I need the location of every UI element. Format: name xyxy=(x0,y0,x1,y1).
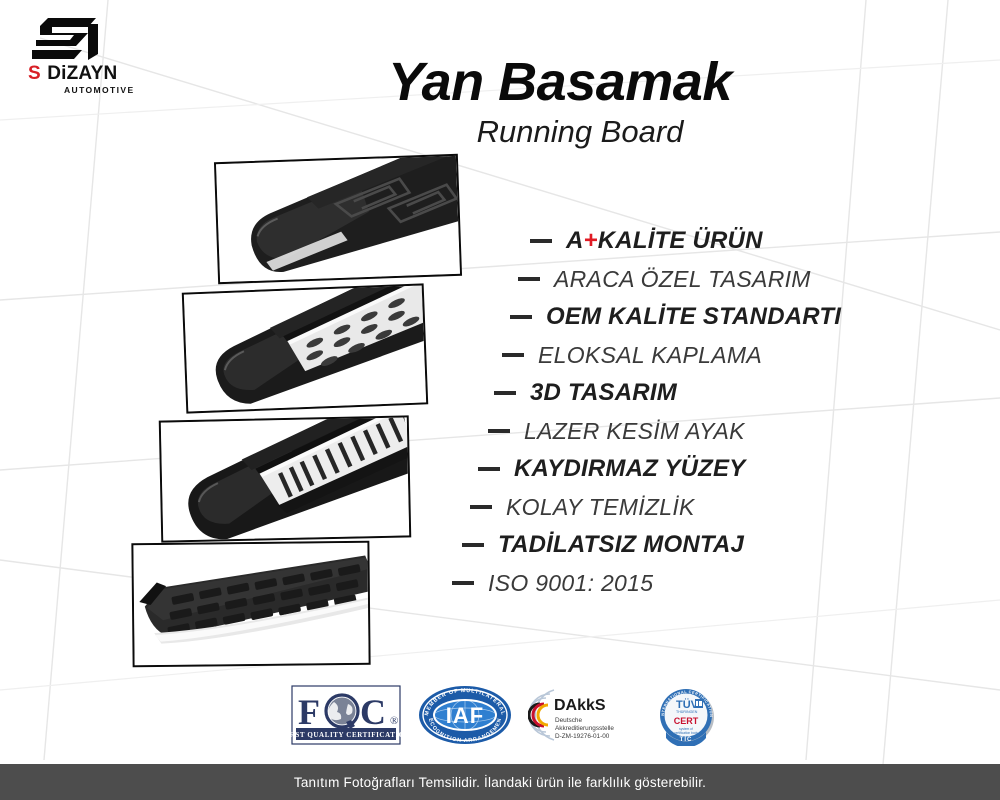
bullet-dash-icon xyxy=(478,467,500,471)
svg-text:IAF: IAF xyxy=(446,703,484,728)
bullet-dash-icon xyxy=(488,429,510,433)
running-board-photo-4 xyxy=(131,541,370,667)
brand-tagline: AUTOMOTIVE xyxy=(64,85,196,95)
feature-item-10: ISO 9001: 2015 xyxy=(440,564,910,602)
feature-item-2: ARACA ÖZEL TASARIM xyxy=(440,260,910,298)
bullet-dash-icon xyxy=(502,353,524,357)
svg-text:Deutsche: Deutsche xyxy=(555,717,582,724)
feature-item-5: 3D TASARIM xyxy=(440,374,910,412)
svg-text:®: ® xyxy=(390,715,398,727)
feature-label-7: KAYDIRMAZ YÜZEY xyxy=(514,457,745,481)
s-dizayn-logo-icon xyxy=(26,16,102,62)
svg-text:certification body: certification body xyxy=(674,731,698,735)
brand-name: DiZAYN xyxy=(47,64,117,83)
feature-label-5: 3D TASARIM xyxy=(530,381,677,405)
iaf-certification-logo: IAF MEMBER OF MULTILATERAL RECOGNITION A… xyxy=(416,684,514,746)
fqc-tagline: FIRST QUALITY CERTIFICATION xyxy=(290,731,402,739)
bullet-dash-icon xyxy=(470,505,492,509)
feature-label-8: KOLAY TEMİZLİK xyxy=(506,496,695,519)
bullet-dash-icon xyxy=(452,581,474,585)
feature-label-2: ARACA ÖZEL TASARIM xyxy=(554,268,811,291)
feature-label-9: TADİLATSIZ MONTAJ xyxy=(498,533,744,557)
bullet-dash-icon xyxy=(510,315,532,319)
feature-item-1: A+KALİTE ÜRÜN xyxy=(440,222,910,260)
feature-item-8: KOLAY TEMİZLİK xyxy=(440,488,910,526)
bullet-dash-icon xyxy=(462,543,484,547)
product-banner: S DiZAYN AUTOMOTIVE Yan Basamak Running … xyxy=(0,0,1000,800)
footer-disclaimer-text: Tanıtım Fotoğrafları Temsilidir. İlandak… xyxy=(294,775,706,790)
bullet-dash-icon xyxy=(530,239,552,243)
svg-text:F: F xyxy=(298,692,320,732)
brand-logo: S DiZAYN AUTOMOTIVE xyxy=(26,16,196,95)
certification-logos: F C ® FIRST QUALITY CERTIFICATION xyxy=(290,682,720,748)
svg-text:Akkreditierungsstelle: Akkreditierungsstelle xyxy=(555,725,614,732)
running-board-photo-2 xyxy=(182,283,428,413)
feature-label-10: ISO 9001: 2015 xyxy=(488,572,653,595)
feature-label-4: ELOKSAL KAPLAMA xyxy=(538,344,762,367)
feature-item-7: KAYDIRMAZ YÜZEY xyxy=(440,450,910,488)
svg-text:CERT: CERT xyxy=(674,716,699,726)
feature-item-6: LAZER KESİM AYAK xyxy=(440,412,910,450)
tuv-cert-certification-logo: INTERNATIONAL CERTIFICATION TÜV THÜRINGE… xyxy=(654,684,720,746)
svg-text:C: C xyxy=(360,692,386,732)
page-subtitle: Running Board xyxy=(300,116,860,147)
running-board-photo-1 xyxy=(214,154,462,284)
feature-item-4: ELOKSAL KAPLAMA xyxy=(440,336,910,374)
feature-label-1: A+KALİTE ÜRÜN xyxy=(566,229,763,253)
feature-label-6: LAZER KESİM AYAK xyxy=(524,420,745,443)
footer-disclaimer-bar: Tanıtım Fotoğrafları Temsilidir. İlandak… xyxy=(0,764,1000,800)
running-board-photo-3 xyxy=(159,415,412,542)
svg-text:THÜRINGEN: THÜRINGEN xyxy=(676,710,698,714)
page-title: Yan Basamak xyxy=(300,55,820,109)
feature-list: A+KALİTE ÜRÜN ARACA ÖZEL TASARIM OEM KAL… xyxy=(440,222,910,602)
svg-text:TIC: TIC xyxy=(680,737,693,743)
feature-label-3: OEM KALİTE STANDARTI xyxy=(546,305,841,329)
bullet-dash-icon xyxy=(494,391,516,395)
bullet-dash-icon xyxy=(518,277,540,281)
feature-item-3: OEM KALİTE STANDARTI xyxy=(440,298,910,336)
svg-text:D-ZM-19276-01-00: D-ZM-19276-01-00 xyxy=(555,733,610,740)
brand-letter-s: S xyxy=(28,64,40,83)
fqc-certification-logo: F C ® FIRST QUALITY CERTIFICATION xyxy=(290,684,402,746)
svg-text:DAkkS: DAkkS xyxy=(554,697,606,714)
dakks-certification-logo: DAkkS Deutsche Akkreditierungsstelle D-Z… xyxy=(528,684,640,746)
feature-item-9: TADİLATSIZ MONTAJ xyxy=(440,526,910,564)
